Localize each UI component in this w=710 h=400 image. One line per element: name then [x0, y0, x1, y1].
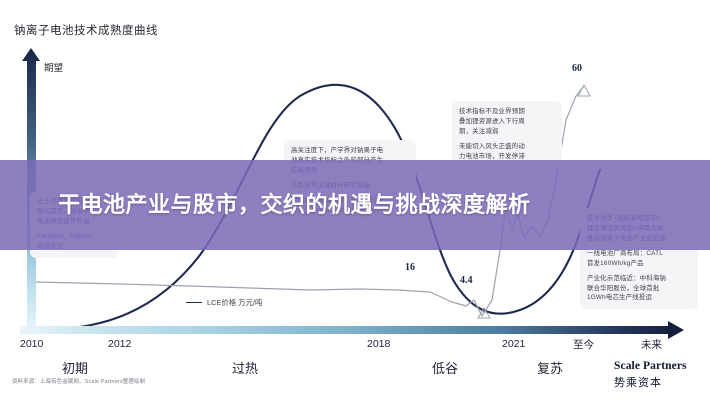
legend-swatch-lce — [186, 302, 202, 304]
annotation-trough-line3: 期，关注减弱 — [459, 128, 499, 135]
value-label-4-4: 4.4 — [460, 275, 473, 286]
annotation-hype-line1: 高关注度下，产学界对钠离子电 — [291, 147, 383, 154]
annotation-recovery-line4: 一线电池厂商布局：CATL — [587, 250, 663, 257]
stage-label-early: 初期 — [62, 358, 88, 377]
x-axis — [20, 326, 672, 334]
annotation-recovery-line7: 联合华阳股份，全球首批 — [587, 285, 660, 292]
annotation-recovery-line5: 首发160Wh/kg产品 — [587, 260, 644, 267]
annotation-trough-line4: 未能切入风头正盛的动 — [459, 143, 525, 150]
annotation-card-trough: 技术指标不及业界预期 叠加锂资源进入下行周 期，关注减弱 未能切入风头正盛的动 … — [452, 101, 562, 168]
annotation-recovery-line8: 1GWh电芯生产线投运 — [587, 294, 652, 301]
annotation-trough-line2: 叠加锂资源进入下行周 — [459, 118, 525, 125]
stage-label-trough: 低谷 — [432, 358, 458, 377]
screenshot-root: 钠离子电池技术成熟度曲线 期望 出于对锂离子电池 替代需求，钠离子 电池研究逐步… — [0, 0, 710, 400]
source-note: 资料来源：上海有色金属网、Scale Partners整理绘制 — [12, 377, 145, 385]
brand-name-en: Scale Partners — [614, 360, 687, 372]
x-axis-arrow-icon — [668, 321, 684, 339]
x-tick-2010: 2010 — [20, 338, 43, 350]
legend: LCE价格 万元/吨 — [186, 297, 262, 308]
annotation-recovery-line6: 产业化示范临近：中科海钠 — [587, 275, 666, 282]
legend-label-lce: LCE价格 万元/吨 — [207, 297, 262, 308]
x-tick-present: 至今 — [573, 337, 594, 352]
annotation-trough-line5: 力电池市场，开发停滞 — [459, 153, 525, 160]
headline-overlay-text: 干电池产业与股市，交织的机遇与挑战深度解析 — [0, 160, 710, 250]
brand-name-cn: 势乘资本 — [614, 374, 687, 390]
x-tick-2018: 2018 — [367, 338, 390, 350]
value-label-60: 60 — [572, 63, 582, 74]
stage-label-hype: 过热 — [232, 358, 258, 377]
x-tick-future: 未来 — [641, 337, 662, 352]
stage-label-recovery: 复苏 — [537, 358, 563, 377]
headline: 干电池产业与股市，交织的机遇与挑战深度解析 — [58, 190, 652, 219]
annotation-trough-line1: 技术指标不及业界预期 — [459, 108, 525, 115]
x-tick-2021: 2021 — [502, 338, 525, 350]
value-label-16: 16 — [405, 262, 415, 273]
brand-logo: Scale Partners 势乘资本 — [614, 360, 687, 390]
x-tick-2012: 2012 — [108, 338, 131, 350]
